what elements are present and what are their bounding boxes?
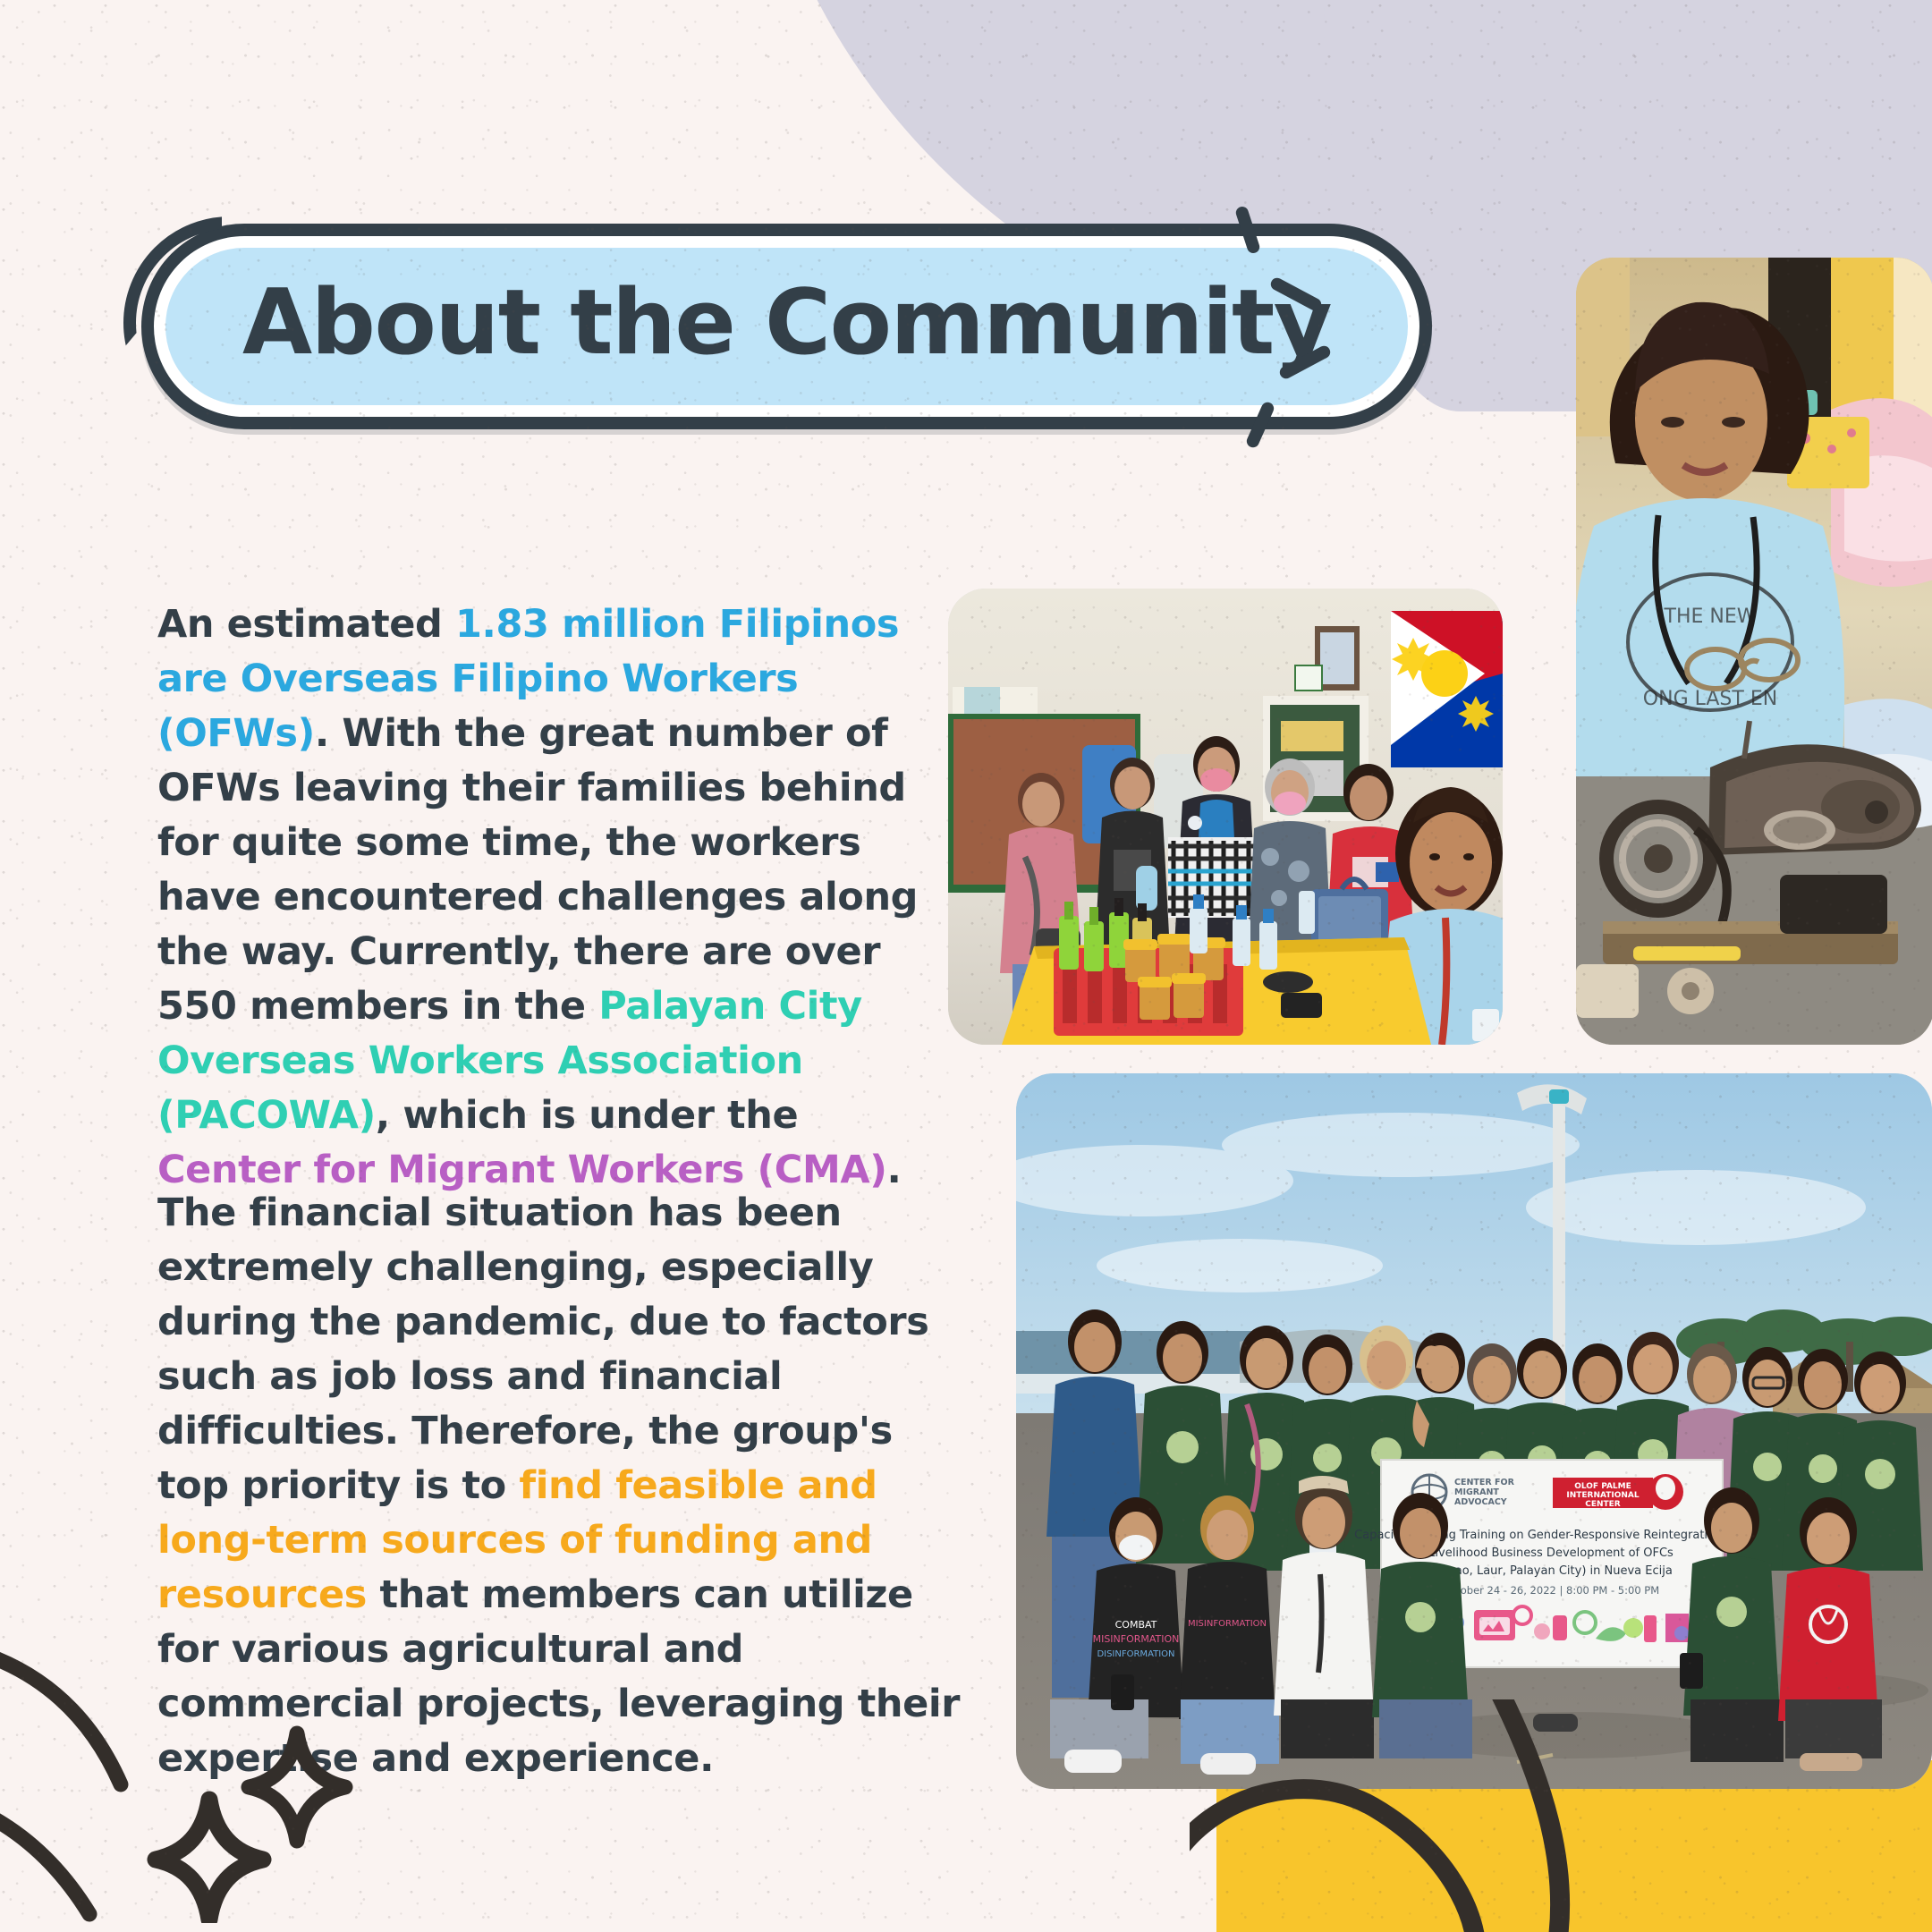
svg-text:(Lupao, Laur, Palayan City) in: (Lupao, Laur, Palayan City) in Nueva Eci…: [1429, 1564, 1673, 1578]
photo-image: THE NEW ONG LAST EN: [1576, 258, 1932, 1045]
svg-text:MISINFORMATION: MISINFORMATION: [1093, 1633, 1180, 1645]
badge-white-ring: About the Community: [154, 236, 1419, 417]
photo-image: [948, 589, 1503, 1045]
svg-text:CENTER: CENTER: [1585, 1500, 1621, 1509]
svg-text:Livelihood Business Developmen: Livelihood Business Development of OFCs: [1428, 1546, 1674, 1560]
photo-group-products: [948, 589, 1503, 1045]
svg-text:MIGRANT: MIGRANT: [1454, 1487, 1499, 1497]
badge-fill: About the Community: [165, 248, 1408, 405]
svg-text:INTERNATIONAL: INTERNATIONAL: [1566, 1491, 1640, 1500]
paragraph-one: An estimated 1.83 million Filipinos are …: [157, 597, 945, 1199]
svg-text:OLOF PALME: OLOF PALME: [1574, 1482, 1631, 1491]
run-plain: . With the great number of OFWs leaving …: [157, 711, 918, 1029]
photo-sewing: THE NEW ONG LAST EN: [1576, 258, 1932, 1045]
svg-text:ADVOCACY: ADVOCACY: [1454, 1497, 1507, 1507]
run-plain: An estimated: [157, 602, 455, 647]
photo-beach-group: CMA CENTER FOR MIGRANT ADVOCACY OLOF PAL…: [1016, 1073, 1932, 1789]
run-plain: , which is under the: [376, 1093, 798, 1138]
photo-image: CMA CENTER FOR MIGRANT ADVOCACY OLOF PAL…: [1016, 1073, 1932, 1789]
page-title-badge: About the Community: [141, 224, 1432, 429]
svg-text:THE NEW: THE NEW: [1664, 606, 1757, 628]
badge-outline: About the Community: [141, 224, 1432, 429]
run-plain: The financial situation has been extreme…: [157, 1191, 928, 1508]
svg-text:MISINFORMATION: MISINFORMATION: [1188, 1619, 1267, 1629]
svg-text:DISINFORMATION: DISINFORMATION: [1097, 1649, 1174, 1659]
poster-canvas: About the Community An estimated 1.83 mi…: [0, 0, 1932, 1932]
paragraph-two: The financial situation has been extreme…: [157, 1186, 962, 1787]
svg-text:October 24 - 26, 2022 | 8:00 P: October 24 - 26, 2022 | 8:00 PM - 5:00 P…: [1443, 1584, 1659, 1597]
svg-text:COMBAT: COMBAT: [1115, 1619, 1157, 1631]
page-title: About the Community: [242, 275, 1331, 369]
svg-text:CENTER FOR: CENTER FOR: [1454, 1478, 1515, 1487]
svg-text:ONG LAST EN: ONG LAST EN: [1643, 688, 1777, 710]
